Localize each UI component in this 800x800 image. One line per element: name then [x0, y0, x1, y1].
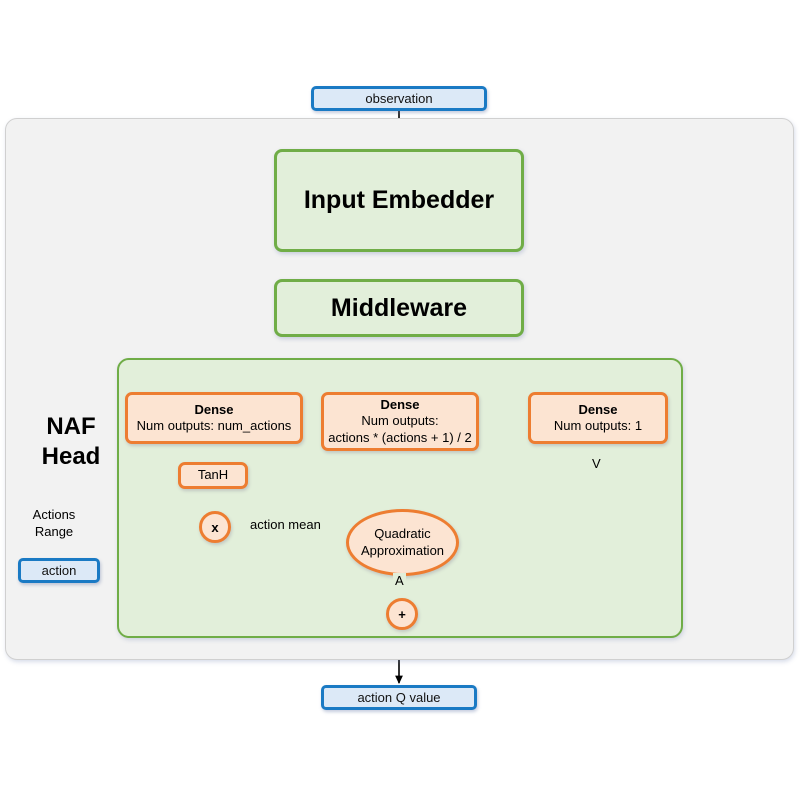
middleware-node[interactable]: Middleware — [274, 279, 524, 337]
naf-head-label: NAF Head — [28, 412, 114, 472]
observation-label: observation — [365, 91, 432, 106]
action-mean-label: action mean — [248, 517, 323, 532]
dense-right-title: Dense — [554, 402, 642, 418]
naf-head-label-line2: Head — [28, 442, 114, 472]
tanh-label: TanH — [198, 467, 228, 483]
dense-center-sub-line2: actions * (actions + 1) / 2 — [328, 430, 471, 446]
dense-right-sub: Num outputs: 1 — [554, 418, 642, 434]
quadratic-approximation-node[interactable]: Quadratic Approximation — [346, 509, 459, 576]
dense-center-node[interactable]: Dense Num outputs: actions * (actions + … — [321, 392, 479, 451]
actions-range-line1: Actions — [24, 507, 84, 524]
value-label: V — [590, 456, 603, 471]
quadratic-label-line1: Quadratic — [361, 526, 444, 543]
advantage-label: A — [393, 573, 406, 588]
quadratic-label-line2: Approximation — [361, 543, 444, 560]
middleware-label: Middleware — [331, 294, 467, 323]
dense-left-sub: Num outputs: num_actions — [137, 418, 292, 434]
action-q-value-node[interactable]: action Q value — [321, 685, 477, 710]
naf-head-label-line1: NAF — [28, 412, 114, 442]
dense-left-node[interactable]: Dense Num outputs: num_actions — [125, 392, 303, 444]
add-operator-node[interactable]: + — [386, 598, 418, 630]
action-input-node[interactable]: action — [18, 558, 100, 583]
input-embedder-node[interactable]: Input Embedder — [274, 149, 524, 252]
actions-range-label: Actions Range — [24, 507, 84, 541]
diagram-canvas: observation Input Embedder Middleware NA… — [0, 0, 800, 800]
input-embedder-label: Input Embedder — [304, 186, 494, 215]
action-q-value-label: action Q value — [357, 690, 440, 705]
tanh-node[interactable]: TanH — [178, 462, 248, 489]
observation-node[interactable]: observation — [311, 86, 487, 111]
dense-center-sub-line1: Num outputs: — [328, 413, 471, 429]
dense-right-node[interactable]: Dense Num outputs: 1 — [528, 392, 668, 444]
dense-left-title: Dense — [137, 402, 292, 418]
multiply-operator-node[interactable]: x — [199, 511, 231, 543]
multiply-label: x — [211, 520, 218, 535]
add-label: + — [398, 607, 406, 622]
actions-range-line2: Range — [24, 524, 84, 541]
action-label: action — [42, 563, 77, 578]
dense-center-title: Dense — [328, 397, 471, 413]
